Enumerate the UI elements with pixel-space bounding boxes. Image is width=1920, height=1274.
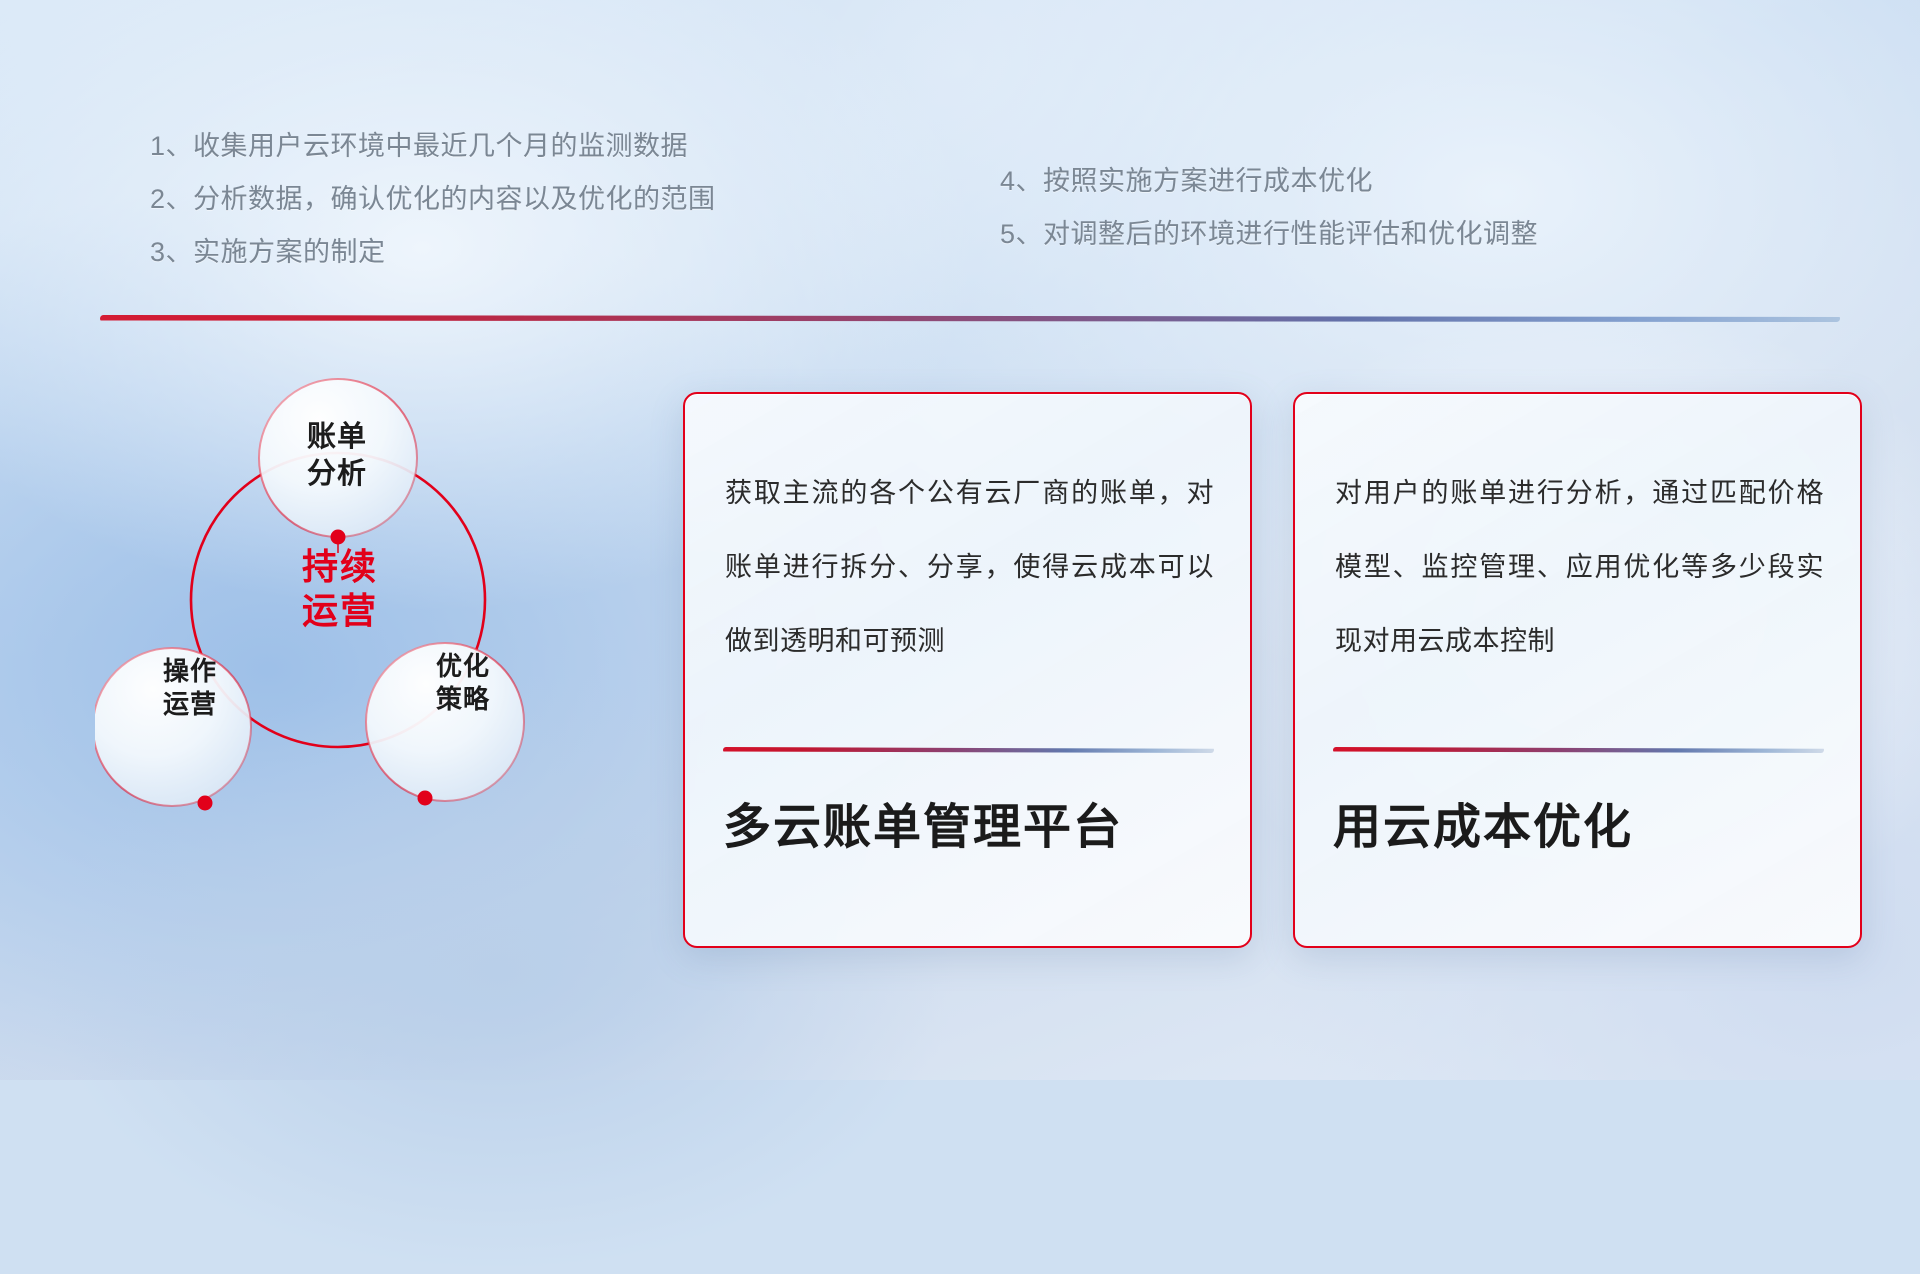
venn-label-optimization-strategy-line2: 策略 xyxy=(383,683,543,716)
card-1-body-text: 获取主流的各个公有云厂商的账单，对账单进行拆分、分享，使得云成本可以做到透明和可… xyxy=(725,456,1214,678)
venn-dot-bottom-right xyxy=(418,791,433,806)
venn-label-operations: 操作 运营 xyxy=(110,655,270,722)
venn-dot-bottom-left xyxy=(198,796,213,811)
card-1-divider-rule xyxy=(723,747,1214,753)
venn-center-label-line2: 运营 xyxy=(255,589,425,633)
card-cloud-cost-optimization[interactable]: 对用户的账单进行分析，通过匹配价格模型、监控管理、应用优化等多少段实现对用云成本… xyxy=(1293,392,1862,948)
process-step-3: 3、实施方案的制定 xyxy=(150,226,716,279)
process-step-5: 5、对调整后的环境进行性能评估和优化调整 xyxy=(1000,208,1538,261)
card-multi-cloud-billing-platform[interactable]: 获取主流的各个公有云厂商的账单，对账单进行拆分、分享，使得云成本可以做到透明和可… xyxy=(683,392,1252,948)
process-step-1: 1、收集用户云环境中最近几个月的监测数据 xyxy=(150,120,716,173)
process-step-4: 4、按照实施方案进行成本优化 xyxy=(1000,155,1538,208)
card-2-divider-rule xyxy=(1333,747,1824,753)
venn-label-billing-analysis-line1: 账单 xyxy=(257,419,417,456)
card-2-body-text: 对用户的账单进行分析，通过匹配价格模型、监控管理、应用优化等多少段实现对用云成本… xyxy=(1335,456,1824,678)
process-steps-right-column: 4、按照实施方案进行成本优化 5、对调整后的环境进行性能评估和优化调整 xyxy=(1000,155,1538,261)
process-step-2: 2、分析数据，确认优化的内容以及优化的范围 xyxy=(150,173,716,226)
process-steps-left-column: 1、收集用户云环境中最近几个月的监测数据 2、分析数据，确认优化的内容以及优化的… xyxy=(150,120,716,279)
continuous-operation-venn-diagram: 账单 分析 操作 运营 优化 策略 持续 运营 xyxy=(95,355,625,955)
venn-label-billing-analysis-line2: 分析 xyxy=(257,456,417,493)
venn-label-billing-analysis: 账单 分析 xyxy=(257,419,417,493)
card-2-title: 用云成本优化 xyxy=(1333,799,1830,857)
venn-label-optimization-strategy: 优化 策略 xyxy=(383,650,543,717)
venn-label-operations-line1: 操作 xyxy=(110,655,270,688)
venn-label-optimization-strategy-line1: 优化 xyxy=(383,650,543,683)
venn-center-label-line1: 持续 xyxy=(255,545,425,589)
venn-label-operations-line2: 运营 xyxy=(110,688,270,721)
venn-center-label: 持续 运营 xyxy=(255,545,425,633)
card-1-title: 多云账单管理平台 xyxy=(723,799,1220,857)
